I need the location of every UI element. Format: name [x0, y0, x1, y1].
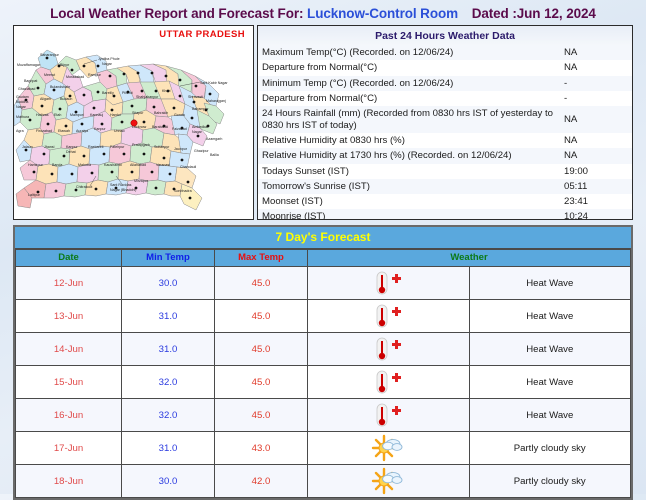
- svg-text:Gautam: Gautam: [16, 95, 29, 99]
- page-title-location: Lucknow-Control Room: [307, 6, 458, 21]
- svg-text:Bahraich: Bahraich: [154, 111, 168, 115]
- forecast-date: 12-Jun: [16, 267, 122, 300]
- svg-text:Shahjahanpur: Shahjahanpur: [136, 95, 159, 99]
- heat-wave-thermometer-icon: [308, 399, 470, 432]
- svg-text:Budaun: Budaun: [60, 97, 72, 101]
- svg-text:Jaunpur: Jaunpur: [174, 147, 188, 151]
- column-header-max-temp: Max Temp: [215, 250, 308, 267]
- forecast-date: 18-Jun: [16, 465, 122, 498]
- row-label: 24 Hours Rainfall (mm) (Recorded from 08…: [258, 106, 560, 133]
- table-row: 18-Jun 30.0 42.0: [16, 465, 631, 498]
- forecast-max-temp: 45.0: [215, 333, 308, 366]
- page-title-date: Dated :Jun 12, 2024: [472, 6, 596, 21]
- row-label: Tomorrow's Sunrise (IST): [258, 179, 560, 194]
- forecast-weather: Heat Wave: [469, 267, 631, 300]
- svg-text:Ghaziabad: Ghaziabad: [18, 87, 35, 91]
- table-row: 17-Jun 31.0 43.0: [16, 432, 631, 465]
- past-24-hours-panel: Past 24 Hours Weather Data Maximum Temp(…: [257, 25, 633, 220]
- table-row: 12-Jun 30.0 45.0: [16, 267, 631, 300]
- forecast-weather: Partly cloudy sky: [469, 465, 631, 498]
- table-row: Todays Sunset (IST) 19:00: [258, 164, 632, 179]
- forecast-max-temp: 45.0: [215, 399, 308, 432]
- svg-text:Bareilly: Bareilly: [102, 91, 114, 95]
- forecast-date: 13-Jun: [16, 300, 122, 333]
- forecast-weather: Heat Wave: [469, 399, 631, 432]
- forecast-min-temp: 30.0: [122, 465, 215, 498]
- forecast-max-temp: 45.0: [215, 366, 308, 399]
- row-value: 05:11: [560, 179, 632, 194]
- seven-day-forecast-panel: 7 Day's Forecast Date Min Temp Max Temp …: [13, 225, 633, 500]
- forecast-min-temp: 32.0: [122, 399, 215, 432]
- svg-text:Barabanki: Barabanki: [152, 125, 168, 129]
- row-label: Minimum Temp (°C) (Recorded. on 12/06/24…: [258, 76, 560, 91]
- column-header-date: Date: [16, 250, 122, 267]
- partly-cloudy-sun-icon: [308, 432, 470, 465]
- forecast-weather: Heat Wave: [469, 333, 631, 366]
- svg-text:Sonbhadra: Sonbhadra: [174, 189, 192, 193]
- table-row: Tomorrow's Sunrise (IST) 05:11: [258, 179, 632, 194]
- svg-text:Muzaffarnagar: Muzaffarnagar: [17, 63, 41, 67]
- svg-text:Sitapur: Sitapur: [132, 111, 144, 115]
- svg-text:Meerut: Meerut: [44, 73, 55, 77]
- table-row: 16-Jun 32.0 45.0: [16, 399, 631, 432]
- forecast-header-row: Date Min Temp Max Temp Weather: [16, 250, 631, 267]
- row-label: Moonrise (IST): [258, 209, 560, 220]
- svg-text:Hamirpur: Hamirpur: [28, 163, 44, 167]
- svg-text:Etah: Etah: [54, 113, 61, 117]
- row-value: 23:41: [560, 194, 632, 209]
- svg-text:Nagar: Nagar: [192, 130, 203, 134]
- past-24-hours-table: Maximum Temp(°C) (Recorded. on 12/06/24)…: [258, 45, 632, 220]
- forecast-max-temp: 42.0: [215, 465, 308, 498]
- table-row: Departure from Normal(°C) NA: [258, 60, 632, 75]
- svg-text:Chitrakoot: Chitrakoot: [76, 185, 92, 189]
- svg-text:Pilibhit: Pilibhit: [122, 91, 133, 95]
- heat-wave-thermometer-icon: [308, 300, 470, 333]
- svg-text:Faizabad: Faizabad: [172, 127, 187, 131]
- page-title: Local Weather Report and Forecast For: L…: [0, 0, 646, 21]
- column-header-min-temp: Min Temp: [122, 250, 215, 267]
- forecast-max-temp: 45.0: [215, 267, 308, 300]
- heat-wave-thermometer-icon: [308, 333, 470, 366]
- svg-text:Pratapgarh: Pratapgarh: [132, 143, 150, 147]
- forecast-table: Date Min Temp Max Temp Weather 12-Jun 30…: [15, 249, 631, 498]
- row-value: NA: [560, 148, 632, 163]
- svg-text:Mathura: Mathura: [16, 115, 29, 119]
- lucknow-location-marker: [131, 120, 137, 126]
- row-label: Departure from Normal(°C): [258, 91, 560, 106]
- row-label: Relative Humidity at 0830 hrs (%): [258, 133, 560, 148]
- svg-text:Baghpat: Baghpat: [24, 79, 37, 83]
- forecast-weather: Heat Wave: [469, 300, 631, 333]
- svg-text:Chandauli: Chandauli: [180, 165, 196, 169]
- forecast-date: 14-Jun: [16, 333, 122, 366]
- table-row: Relative Humidity at 0830 hrs (%) NA: [258, 133, 632, 148]
- row-value: NA: [560, 106, 632, 133]
- row-value: NA: [560, 45, 632, 60]
- row-label: Moonset (IST): [258, 194, 560, 209]
- svg-text:Unnao: Unnao: [114, 129, 125, 133]
- forecast-date: 17-Jun: [16, 432, 122, 465]
- svg-text:Varanasi: Varanasi: [156, 163, 170, 167]
- svg-text:Etawah: Etawah: [58, 129, 70, 133]
- weather-report-page: Local Weather Report and Forecast For: L…: [0, 0, 646, 494]
- forecast-min-temp: 32.0: [122, 366, 215, 399]
- uttar-pradesh-map-panel: UTTAR PRADESH: [13, 25, 254, 220]
- svg-text:Sant Kabir Nagar: Sant Kabir Nagar: [200, 81, 228, 85]
- svg-text:Ambedkar: Ambedkar: [192, 125, 209, 129]
- svg-text:Buddha: Buddha: [16, 100, 28, 104]
- svg-text:Bijnor: Bijnor: [60, 63, 70, 67]
- svg-text:Mirzapur: Mirzapur: [134, 179, 149, 183]
- svg-text:Gonda: Gonda: [174, 113, 185, 117]
- svg-text:Mainpuri: Mainpuri: [70, 113, 84, 117]
- row-value: NA: [560, 60, 632, 75]
- row-value: 19:00: [560, 164, 632, 179]
- page-title-prefix: Local Weather Report and Forecast For:: [50, 6, 303, 21]
- table-row: Moonset (IST) 23:41: [258, 194, 632, 209]
- past-24-hours-heading: Past 24 Hours Weather Data: [258, 26, 632, 45]
- svg-text:Jyotiba Phule: Jyotiba Phule: [98, 57, 120, 61]
- svg-text:Jalaun: Jalaun: [22, 145, 33, 149]
- forecast-min-temp: 30.0: [122, 267, 215, 300]
- svg-text:Nagar: Nagar: [16, 105, 27, 109]
- svg-text:Allahabad: Allahabad: [130, 163, 146, 167]
- row-label: Todays Sunset (IST): [258, 164, 560, 179]
- table-row: 13-Jun 31.0 45.0: [16, 300, 631, 333]
- table-row: 24 Hours Rainfall (mm) (Recorded from 08…: [258, 106, 632, 133]
- svg-text:Agra: Agra: [16, 129, 24, 133]
- column-header-weather: Weather: [308, 250, 631, 267]
- svg-text:Balrampur: Balrampur: [192, 107, 209, 111]
- partly-cloudy-sun-icon: [308, 465, 470, 498]
- svg-text:Maharajganj: Maharajganj: [206, 99, 226, 103]
- forecast-weather: Heat Wave: [469, 366, 631, 399]
- svg-text:Kanpur: Kanpur: [66, 145, 78, 149]
- svg-text:Saharanpur: Saharanpur: [40, 53, 60, 57]
- svg-text:Lalitpur: Lalitpur: [28, 193, 41, 197]
- forecast-min-temp: 31.0: [122, 432, 215, 465]
- table-row: Moonrise (IST) 10:24: [258, 209, 632, 220]
- heat-wave-thermometer-icon: [308, 366, 470, 399]
- forecast-date: 15-Jun: [16, 366, 122, 399]
- svg-text:Nagar: Nagar: [102, 62, 113, 66]
- svg-text:Mahoba: Mahoba: [78, 163, 91, 167]
- forecast-max-temp: 43.0: [215, 432, 308, 465]
- svg-text:Fatehpur: Fatehpur: [110, 145, 125, 149]
- svg-text:Hathras: Hathras: [36, 113, 49, 117]
- svg-text:Moradabad: Moradabad: [66, 75, 84, 79]
- svg-text:Kannauj: Kannauj: [90, 113, 103, 117]
- row-value: NA: [560, 133, 632, 148]
- svg-text:Dehat: Dehat: [66, 150, 76, 154]
- svg-text:Kaushambi: Kaushambi: [104, 163, 122, 167]
- svg-text:Rampur: Rampur: [88, 73, 102, 77]
- forecast-date: 16-Jun: [16, 399, 122, 432]
- svg-text:Raebareli: Raebareli: [88, 145, 104, 149]
- svg-text:Shravasti: Shravasti: [188, 95, 203, 99]
- table-row: Relative Humidity at 1730 hrs (%) (Recor…: [258, 148, 632, 163]
- row-label: Relative Humidity at 1730 hrs (%) (Recor…: [258, 148, 560, 163]
- svg-text:Ballia: Ballia: [210, 153, 219, 157]
- forecast-min-temp: 31.0: [122, 333, 215, 366]
- row-value: -: [560, 76, 632, 91]
- svg-text:Aligarh: Aligarh: [40, 97, 51, 101]
- table-row: Departure from Normal(°C) -: [258, 91, 632, 106]
- forecast-weather: Partly cloudy sky: [469, 432, 631, 465]
- svg-text:Ghazipur: Ghazipur: [194, 149, 209, 153]
- uttar-pradesh-map-svg: Saharanpur Muzaffarnagar Bijnor Meerut M…: [14, 36, 254, 216]
- svg-text:Firozabad: Firozabad: [36, 129, 52, 133]
- heat-wave-thermometer-icon: [308, 267, 470, 300]
- forecast-title: 7 Day's Forecast: [15, 227, 631, 249]
- svg-text:Kheri: Kheri: [162, 89, 171, 93]
- row-value: 10:24: [560, 209, 632, 220]
- svg-text:Kanpur: Kanpur: [94, 127, 106, 131]
- forecast-min-temp: 31.0: [122, 300, 215, 333]
- table-row: Maximum Temp(°C) (Recorded. on 12/06/24)…: [258, 45, 632, 60]
- table-row: 14-Jun 31.0 45.0: [16, 333, 631, 366]
- top-panels: UTTAR PRADESH: [13, 25, 633, 220]
- row-label: Departure from Normal(°C): [258, 60, 560, 75]
- svg-text:Jhansi: Jhansi: [44, 145, 55, 149]
- svg-text:Bulandshahr: Bulandshahr: [50, 85, 71, 89]
- forecast-max-temp: 45.0: [215, 300, 308, 333]
- table-row: 15-Jun 32.0 45.0: [16, 366, 631, 399]
- row-label: Maximum Temp(°C) (Recorded. on 12/06/24): [258, 45, 560, 60]
- svg-text:Nagar (Bhadohi): Nagar (Bhadohi): [110, 188, 136, 192]
- svg-text:Auraiya: Auraiya: [76, 129, 88, 133]
- svg-text:Banda: Banda: [52, 163, 62, 167]
- row-value: -: [560, 91, 632, 106]
- svg-text:Hardoi: Hardoi: [110, 113, 121, 117]
- svg-text:Sultanpur: Sultanpur: [154, 145, 170, 149]
- svg-text:Azamgarh: Azamgarh: [206, 137, 222, 141]
- svg-text:Sant Ravidas: Sant Ravidas: [110, 183, 132, 187]
- table-row: Minimum Temp (°C) (Recorded. on 12/06/24…: [258, 76, 632, 91]
